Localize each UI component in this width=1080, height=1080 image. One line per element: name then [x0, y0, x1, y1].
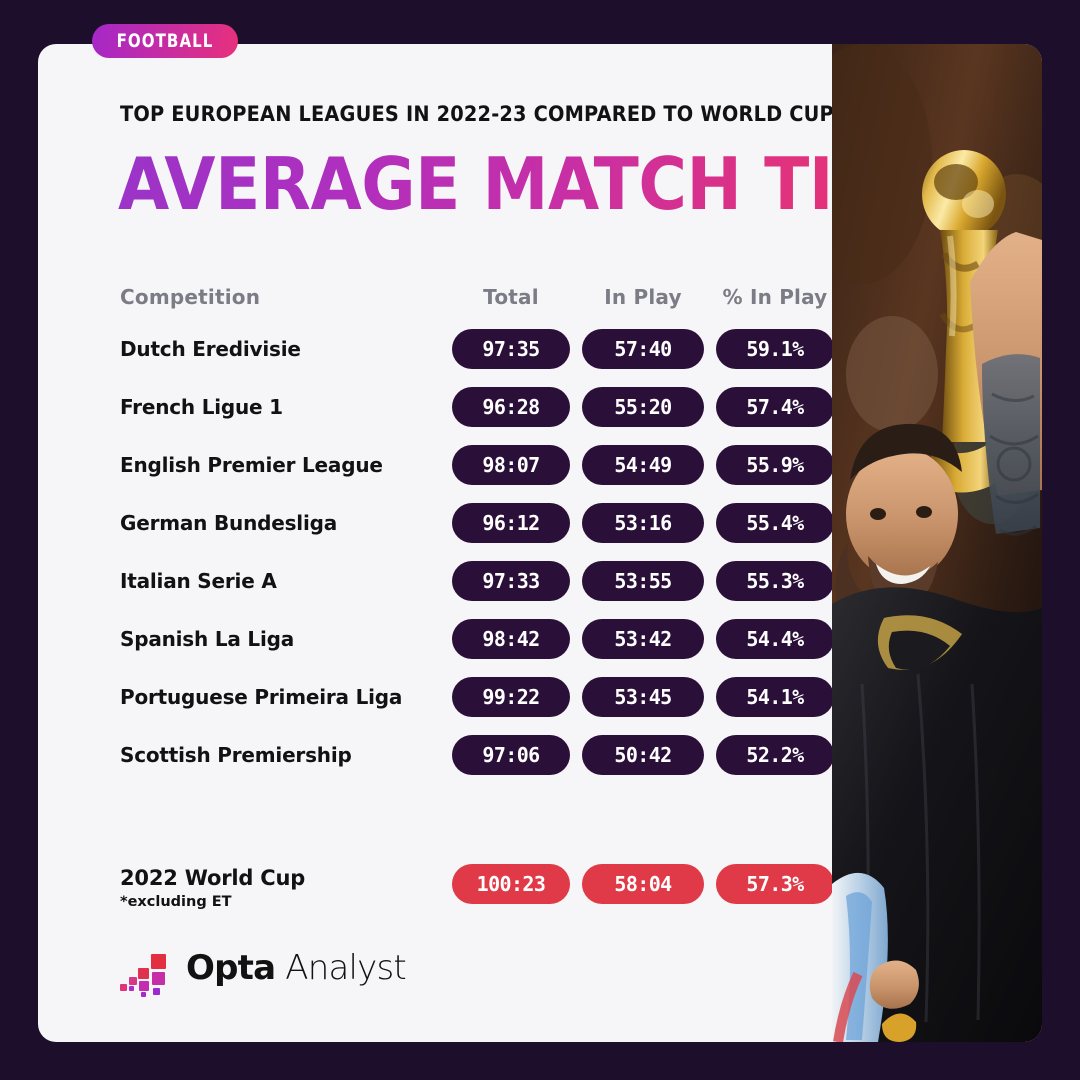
- row-pct-in-play-pill: 55.3%: [716, 561, 834, 601]
- row-total-pill: 99:22: [452, 677, 570, 717]
- row-in-play-pill: 57:40: [582, 329, 704, 369]
- row-total-pill: 97:35: [452, 329, 570, 369]
- row-cells: 99:2253:4554.1%: [452, 677, 834, 717]
- table-row: German Bundesliga96:1253:1655.4%: [82, 494, 842, 552]
- row-cells: 96:1253:1655.4%: [452, 503, 834, 543]
- row-total-pill: 96:12: [452, 503, 570, 543]
- row-cells: 97:3353:5555.3%: [452, 561, 834, 601]
- row-in-play-pill: 53:16: [582, 503, 704, 543]
- table-row: French Ligue 196:2855:2057.4%: [82, 378, 842, 436]
- row-competition-label: French Ligue 1: [120, 395, 283, 419]
- world-cup-trophy-photo: [832, 44, 1042, 1042]
- row-in-play-pill: 53:42: [582, 619, 704, 659]
- row-competition-label: German Bundesliga: [120, 511, 337, 535]
- row-pct-in-play-pill: 54.1%: [716, 677, 834, 717]
- row-total-pill: 97:06: [452, 735, 570, 775]
- row-competition-label: Dutch Eredivisie: [120, 337, 301, 361]
- column-header-cells: Total In Play % In Play: [452, 285, 834, 309]
- row-in-play-pill: 50:42: [582, 735, 704, 775]
- stats-table: Competition Total In Play % In Play Dutc…: [82, 274, 842, 784]
- row-pct-in-play-pill: 59.1%: [716, 329, 834, 369]
- row-total-pill: 98:42: [452, 619, 570, 659]
- table-row: Dutch Eredivisie97:3557:4059.1%: [82, 320, 842, 378]
- column-header-pct-in-play: % In Play: [716, 285, 834, 309]
- world-cup-in-play: 58:04: [582, 864, 704, 904]
- table-row: Spanish La Liga98:4253:4254.4%: [82, 610, 842, 668]
- world-cup-row: 2022 World Cup *excluding ET 100:23 58:0…: [82, 862, 842, 932]
- logo-product: Analyst: [285, 948, 406, 988]
- column-header-in-play: In Play: [582, 285, 704, 309]
- row-competition-label: English Premier League: [120, 453, 383, 477]
- row-competition-label: Portuguese Primeira Liga: [120, 685, 402, 709]
- row-cells: 98:0754:4955.9%: [452, 445, 834, 485]
- table-row: Scottish Premiership97:0650:4252.2%: [82, 726, 842, 784]
- world-cup-cells: 100:23 58:04 57.3%: [452, 864, 834, 904]
- row-pct-in-play-pill: 52.2%: [716, 735, 834, 775]
- row-competition-label: Italian Serie A: [120, 569, 277, 593]
- row-cells: 98:4253:4254.4%: [452, 619, 834, 659]
- row-pct-in-play-pill: 55.9%: [716, 445, 834, 485]
- row-competition-label: Scottish Premiership: [120, 743, 352, 767]
- world-cup-footnote: *excluding ET: [120, 894, 232, 910]
- row-pct-in-play-pill: 54.4%: [716, 619, 834, 659]
- world-cup-label: 2022 World Cup: [120, 866, 305, 890]
- column-header-total: Total: [452, 285, 570, 309]
- opta-staircase-icon: [120, 944, 172, 992]
- row-in-play-pill: 53:55: [582, 561, 704, 601]
- row-competition-label: Spanish La Liga: [120, 627, 294, 651]
- row-total-pill: 96:28: [452, 387, 570, 427]
- row-in-play-pill: 55:20: [582, 387, 704, 427]
- table-row: Italian Serie A97:3353:5555.3%: [82, 552, 842, 610]
- table-row: Portuguese Primeira Liga99:2253:4554.1%: [82, 668, 842, 726]
- content-column: TOP EUROPEAN LEAGUES IN 2022-23 COMPARED…: [82, 44, 842, 1042]
- row-in-play-pill: 53:45: [582, 677, 704, 717]
- row-in-play-pill: 54:49: [582, 445, 704, 485]
- logo-wordmark: Opta Analyst: [186, 948, 406, 988]
- table-row: English Premier League98:0754:4955.9%: [82, 436, 842, 494]
- infographic-card: TOP EUROPEAN LEAGUES IN 2022-23 COMPARED…: [38, 44, 1042, 1042]
- row-total-pill: 97:33: [452, 561, 570, 601]
- logo-brand: Opta: [186, 948, 275, 988]
- column-header-competition: Competition: [120, 285, 260, 309]
- opta-analyst-logo: Opta Analyst: [120, 944, 406, 992]
- row-cells: 96:2855:2057.4%: [452, 387, 834, 427]
- row-cells: 97:3557:4059.1%: [452, 329, 834, 369]
- table-header-row: Competition Total In Play % In Play: [82, 274, 842, 320]
- subtitle: TOP EUROPEAN LEAGUES IN 2022-23 COMPARED…: [120, 102, 834, 127]
- category-badge[interactable]: FOOTBALL: [92, 24, 238, 58]
- row-total-pill: 98:07: [452, 445, 570, 485]
- world-cup-total: 100:23: [452, 864, 570, 904]
- category-badge-label: FOOTBALL: [117, 30, 214, 52]
- row-pct-in-play-pill: 55.4%: [716, 503, 834, 543]
- row-cells: 97:0650:4252.2%: [452, 735, 834, 775]
- world-cup-pct-in-play: 57.3%: [716, 864, 834, 904]
- page-title: AVERAGE MATCH TIME: [118, 148, 943, 220]
- row-pct-in-play-pill: 57.4%: [716, 387, 834, 427]
